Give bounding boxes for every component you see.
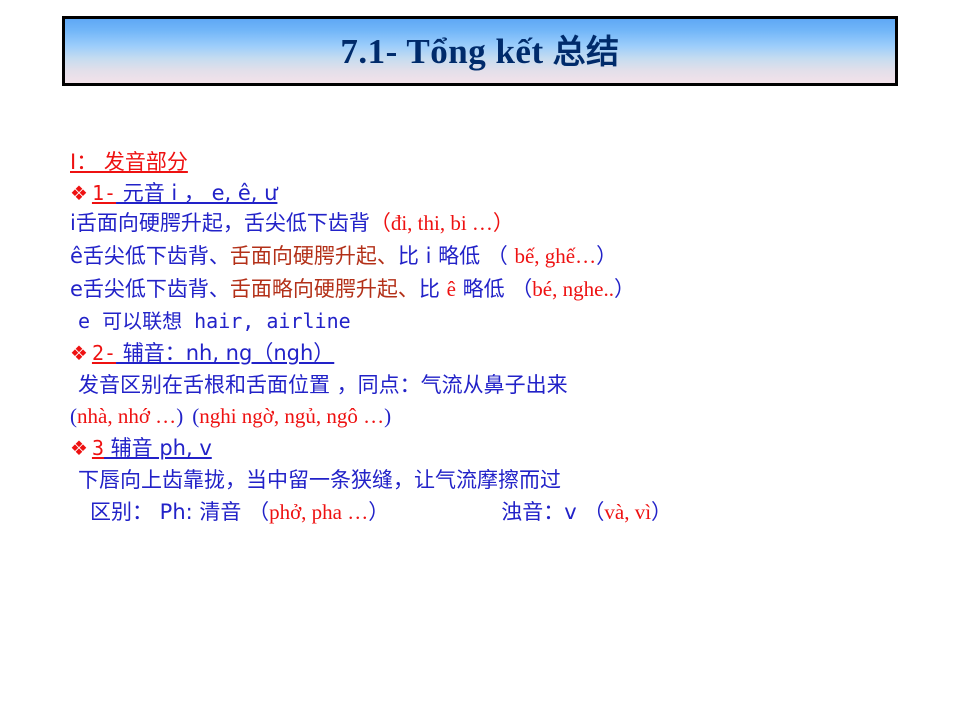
example-group-1-words: nhà, nhớ … xyxy=(77,404,176,428)
bullet-1-text: 元音 i ， e, ê, ư xyxy=(116,181,277,205)
example-group-2-words: nghi ngờ, ngủ, ngô … xyxy=(199,404,384,428)
section-heading-label: I： 发音部分 xyxy=(70,150,188,174)
bullet-3-text: 辅音 ph, v xyxy=(104,436,212,460)
contrast-voiced-close: ） xyxy=(651,500,672,524)
consonant-nh-ng-description: 发音区别在舌根和舌面位置 ，同点：气流从鼻子出来 xyxy=(70,375,950,396)
vowel-ec-desc-part2: 舌面向硬腭升起、 xyxy=(230,244,398,268)
example-group-1-close: ) xyxy=(176,404,183,428)
vowel-i-examples: （đi, thi, bi …） xyxy=(370,211,514,235)
bullet-3-number: 3 xyxy=(92,436,104,460)
vowel-ec-examples: bế, ghế… xyxy=(514,244,596,268)
contrast-voiceless-examples: phở, pha … xyxy=(269,500,368,524)
bullet-2-number: 2- xyxy=(92,341,116,365)
slide-title-bar: 7.1- Tổng kết总结 xyxy=(62,16,898,86)
vowel-e-close-paren: ） xyxy=(614,277,635,301)
vowel-e-desc-part1: e舌尖低下齿背、 xyxy=(70,277,230,301)
vowel-ec-desc-part3: 比 i 略低 （ xyxy=(398,244,515,268)
contrast-voiced-examples: và, vì xyxy=(604,500,651,524)
page-title: 7.1- Tổng kết总结 xyxy=(340,34,619,69)
consonant-ph-v-desc-text: 下唇向上齿靠拢，当中留一条狭缝，让气流摩擦而过 xyxy=(78,468,561,492)
slide-canvas: 7.1- Tổng kết总结 I： 发音部分 ❖1- 元音 i ， e, ê,… xyxy=(0,0,960,720)
contrast-voiced-label: 浊音：v （ xyxy=(501,500,604,524)
vowel-e-mnemonic: e 可以联想 hair, airline xyxy=(70,311,950,332)
bullet-item-1: ❖1- 元音 i ， e, ê, ư xyxy=(70,183,950,204)
bullet-item-3: ❖3 辅音 ph, v xyxy=(70,438,950,459)
slide-body: I： 发音部分 ❖1- 元音 i ， e, ê, ư i舌面向硬腭升起，舌尖低下… xyxy=(70,152,950,523)
vowel-i-description: i舌面向硬腭升起，舌尖低下齿背（đi, thi, bi …） xyxy=(70,213,950,234)
example-group-1-open: ( xyxy=(70,404,77,428)
vowel-e-examples: bé, nghe.. xyxy=(532,277,614,301)
consonant-nh-ng-examples: (nhà, nhớ …)(nghi ngờ, ngủ, ngô …) xyxy=(70,406,950,427)
diamond-bullet-icon: ❖ xyxy=(70,341,88,365)
vowel-i-desc-text: i舌面向硬腭升起，舌尖低下齿背 xyxy=(70,211,370,235)
contrast-voiceless-label: 区别： Ph: 清音 （ xyxy=(90,500,269,524)
vowel-e-circumflex-description: ê舌尖低下齿背、舌面向硬腭升起、比 i 略低 （ bế, ghế…） xyxy=(70,246,950,267)
vowel-ec-close-paren: ） xyxy=(596,244,617,268)
consonant-nh-ng-desc-text: 发音区别在舌根和舌面位置 ，同点：气流从鼻子出来 xyxy=(78,373,568,397)
diamond-bullet-icon: ❖ xyxy=(70,436,88,460)
contrast-voiceless-close: ） xyxy=(368,500,389,524)
consonant-ph-v-contrast: 区别： Ph: 清音 （phở, pha …）浊音：v （và, vì） xyxy=(70,502,950,523)
vowel-e-desc-part2: 舌面略向硬腭升起、 xyxy=(230,277,419,301)
vowel-e-description: e舌尖低下齿背、舌面略向硬腭升起、比 ê 略低 （bé, nghe..） xyxy=(70,279,950,300)
vowel-e-mnemonic-text: e 可以联想 hair, airline xyxy=(78,309,351,333)
bullet-2-text: 辅音：nh, ng（ngh） xyxy=(116,341,334,365)
vowel-e-desc-part4: 略低 （ xyxy=(456,277,532,301)
page-title-cjk: 总结 xyxy=(553,32,620,71)
consonant-ph-v-description: 下唇向上齿靠拢，当中留一条狭缝，让气流摩擦而过 xyxy=(70,470,950,491)
section-heading-pronunciation: I： 发音部分 xyxy=(70,152,950,173)
bullet-item-2: ❖2- 辅音：nh, ng（ngh） xyxy=(70,343,950,364)
diamond-bullet-icon: ❖ xyxy=(70,181,88,205)
page-title-latin: 7.1- Tổng kết xyxy=(340,32,543,71)
vowel-e-ref-symbol: ê xyxy=(447,277,456,301)
vowel-e-desc-part3: 比 xyxy=(419,277,447,301)
vowel-ec-desc-part1: ê舌尖低下齿背、 xyxy=(70,244,230,268)
example-group-2-close: ) xyxy=(384,404,391,428)
bullet-1-number: 1- xyxy=(92,181,116,205)
